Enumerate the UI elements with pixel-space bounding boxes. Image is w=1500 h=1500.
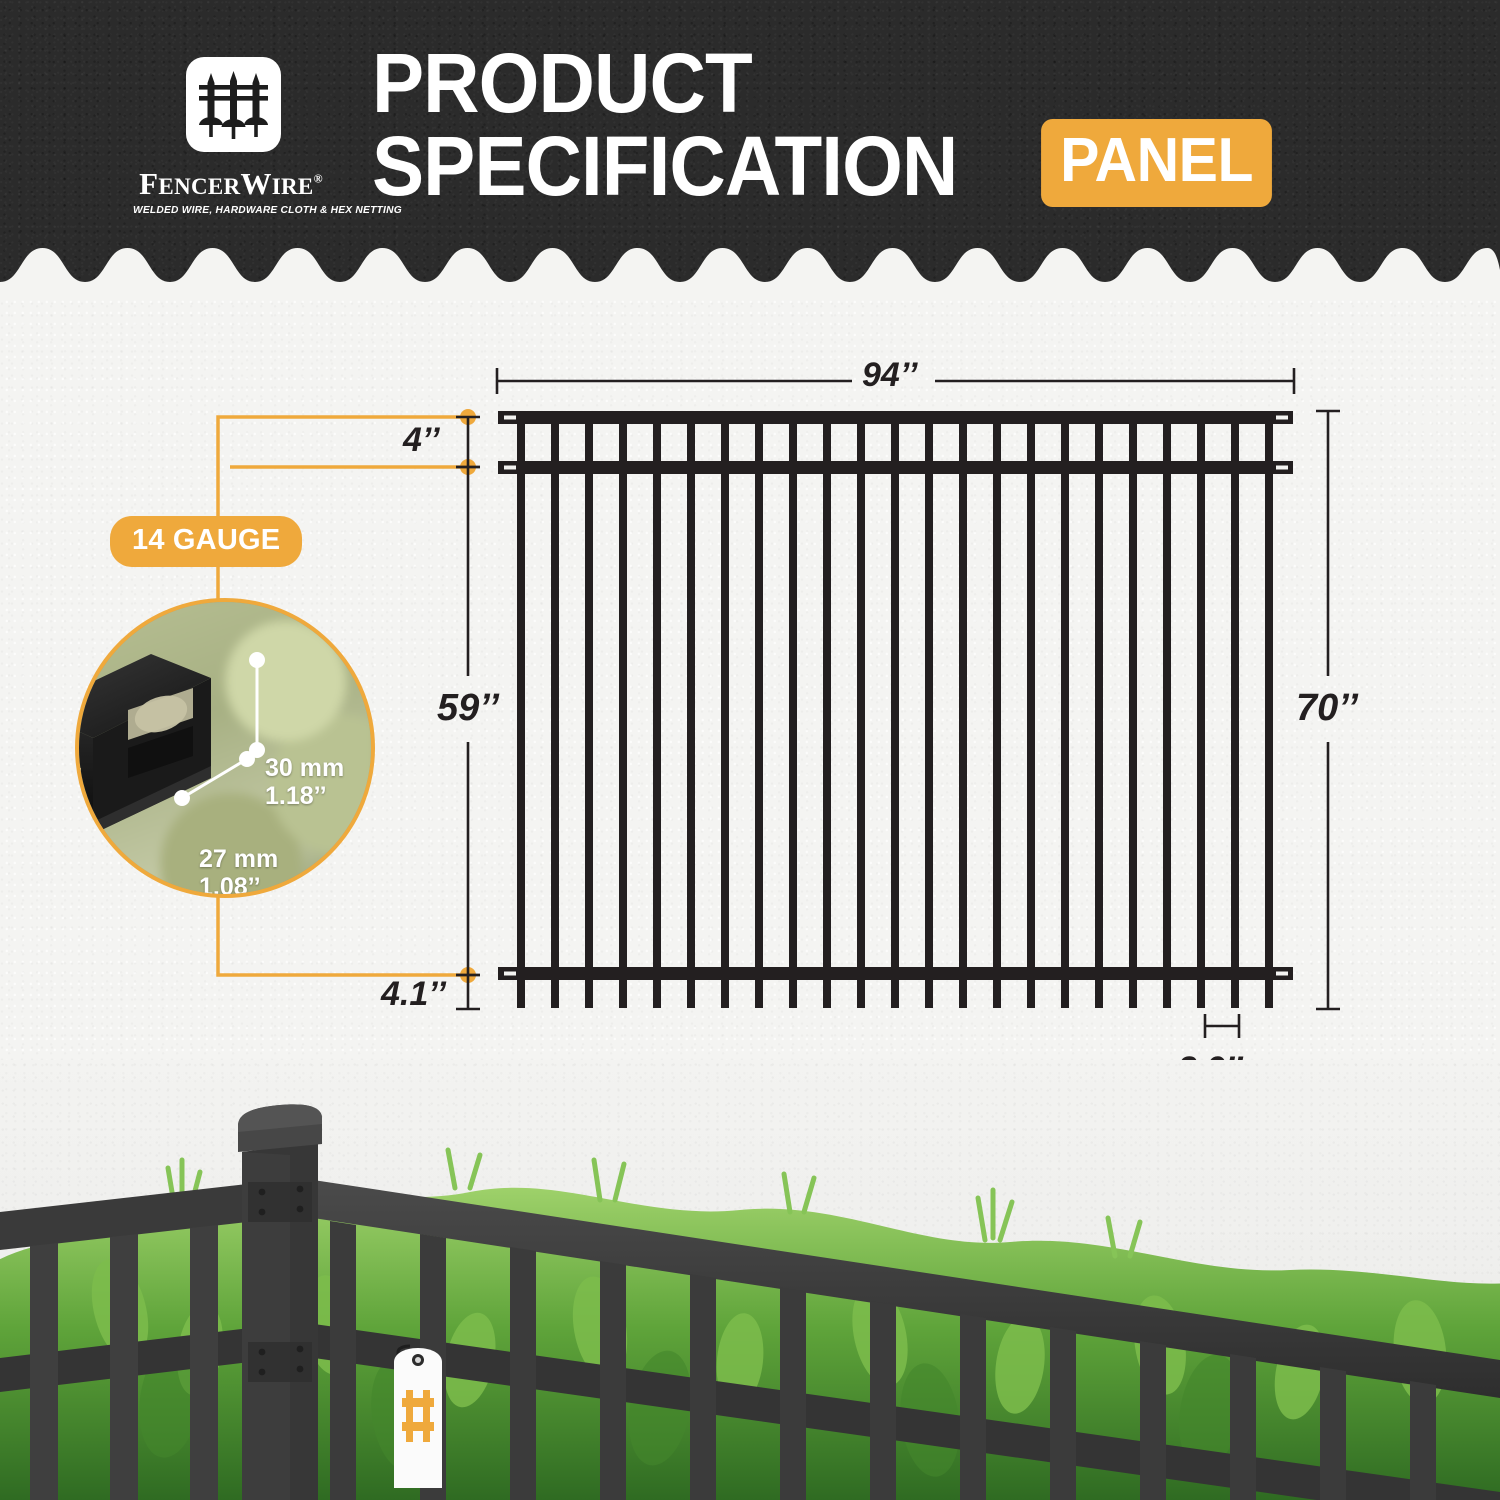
fence-installation-scene	[0, 1060, 1500, 1500]
gauge-badge: 14 GAUGE	[110, 516, 302, 567]
fence-panel-drawing	[498, 411, 1293, 1008]
fence-post	[238, 1104, 322, 1500]
dimension-label-total-height: 70’’	[1296, 687, 1358, 730]
picket-group	[517, 411, 1273, 1008]
dimension-label-picket-height: 59’’	[437, 687, 499, 730]
dimension-label-bottom-overhang: 4.1’’	[381, 975, 446, 1014]
hang-tag	[394, 1346, 442, 1488]
dimension-label-top-rail-gap: 4’’	[403, 421, 440, 460]
dimension-label-panel-width: 94’’	[862, 356, 917, 395]
inset-dimension-lines	[79, 602, 375, 898]
lifestyle-photo	[0, 1060, 1500, 1500]
product-spec-sheet: FENCERWIRE® WELDED WIRE, HARDWARE CLOTH …	[0, 0, 1500, 1500]
post-cross-section-inset: 30 mm 1.18’’ 27 mm 1.08’’	[75, 598, 375, 898]
